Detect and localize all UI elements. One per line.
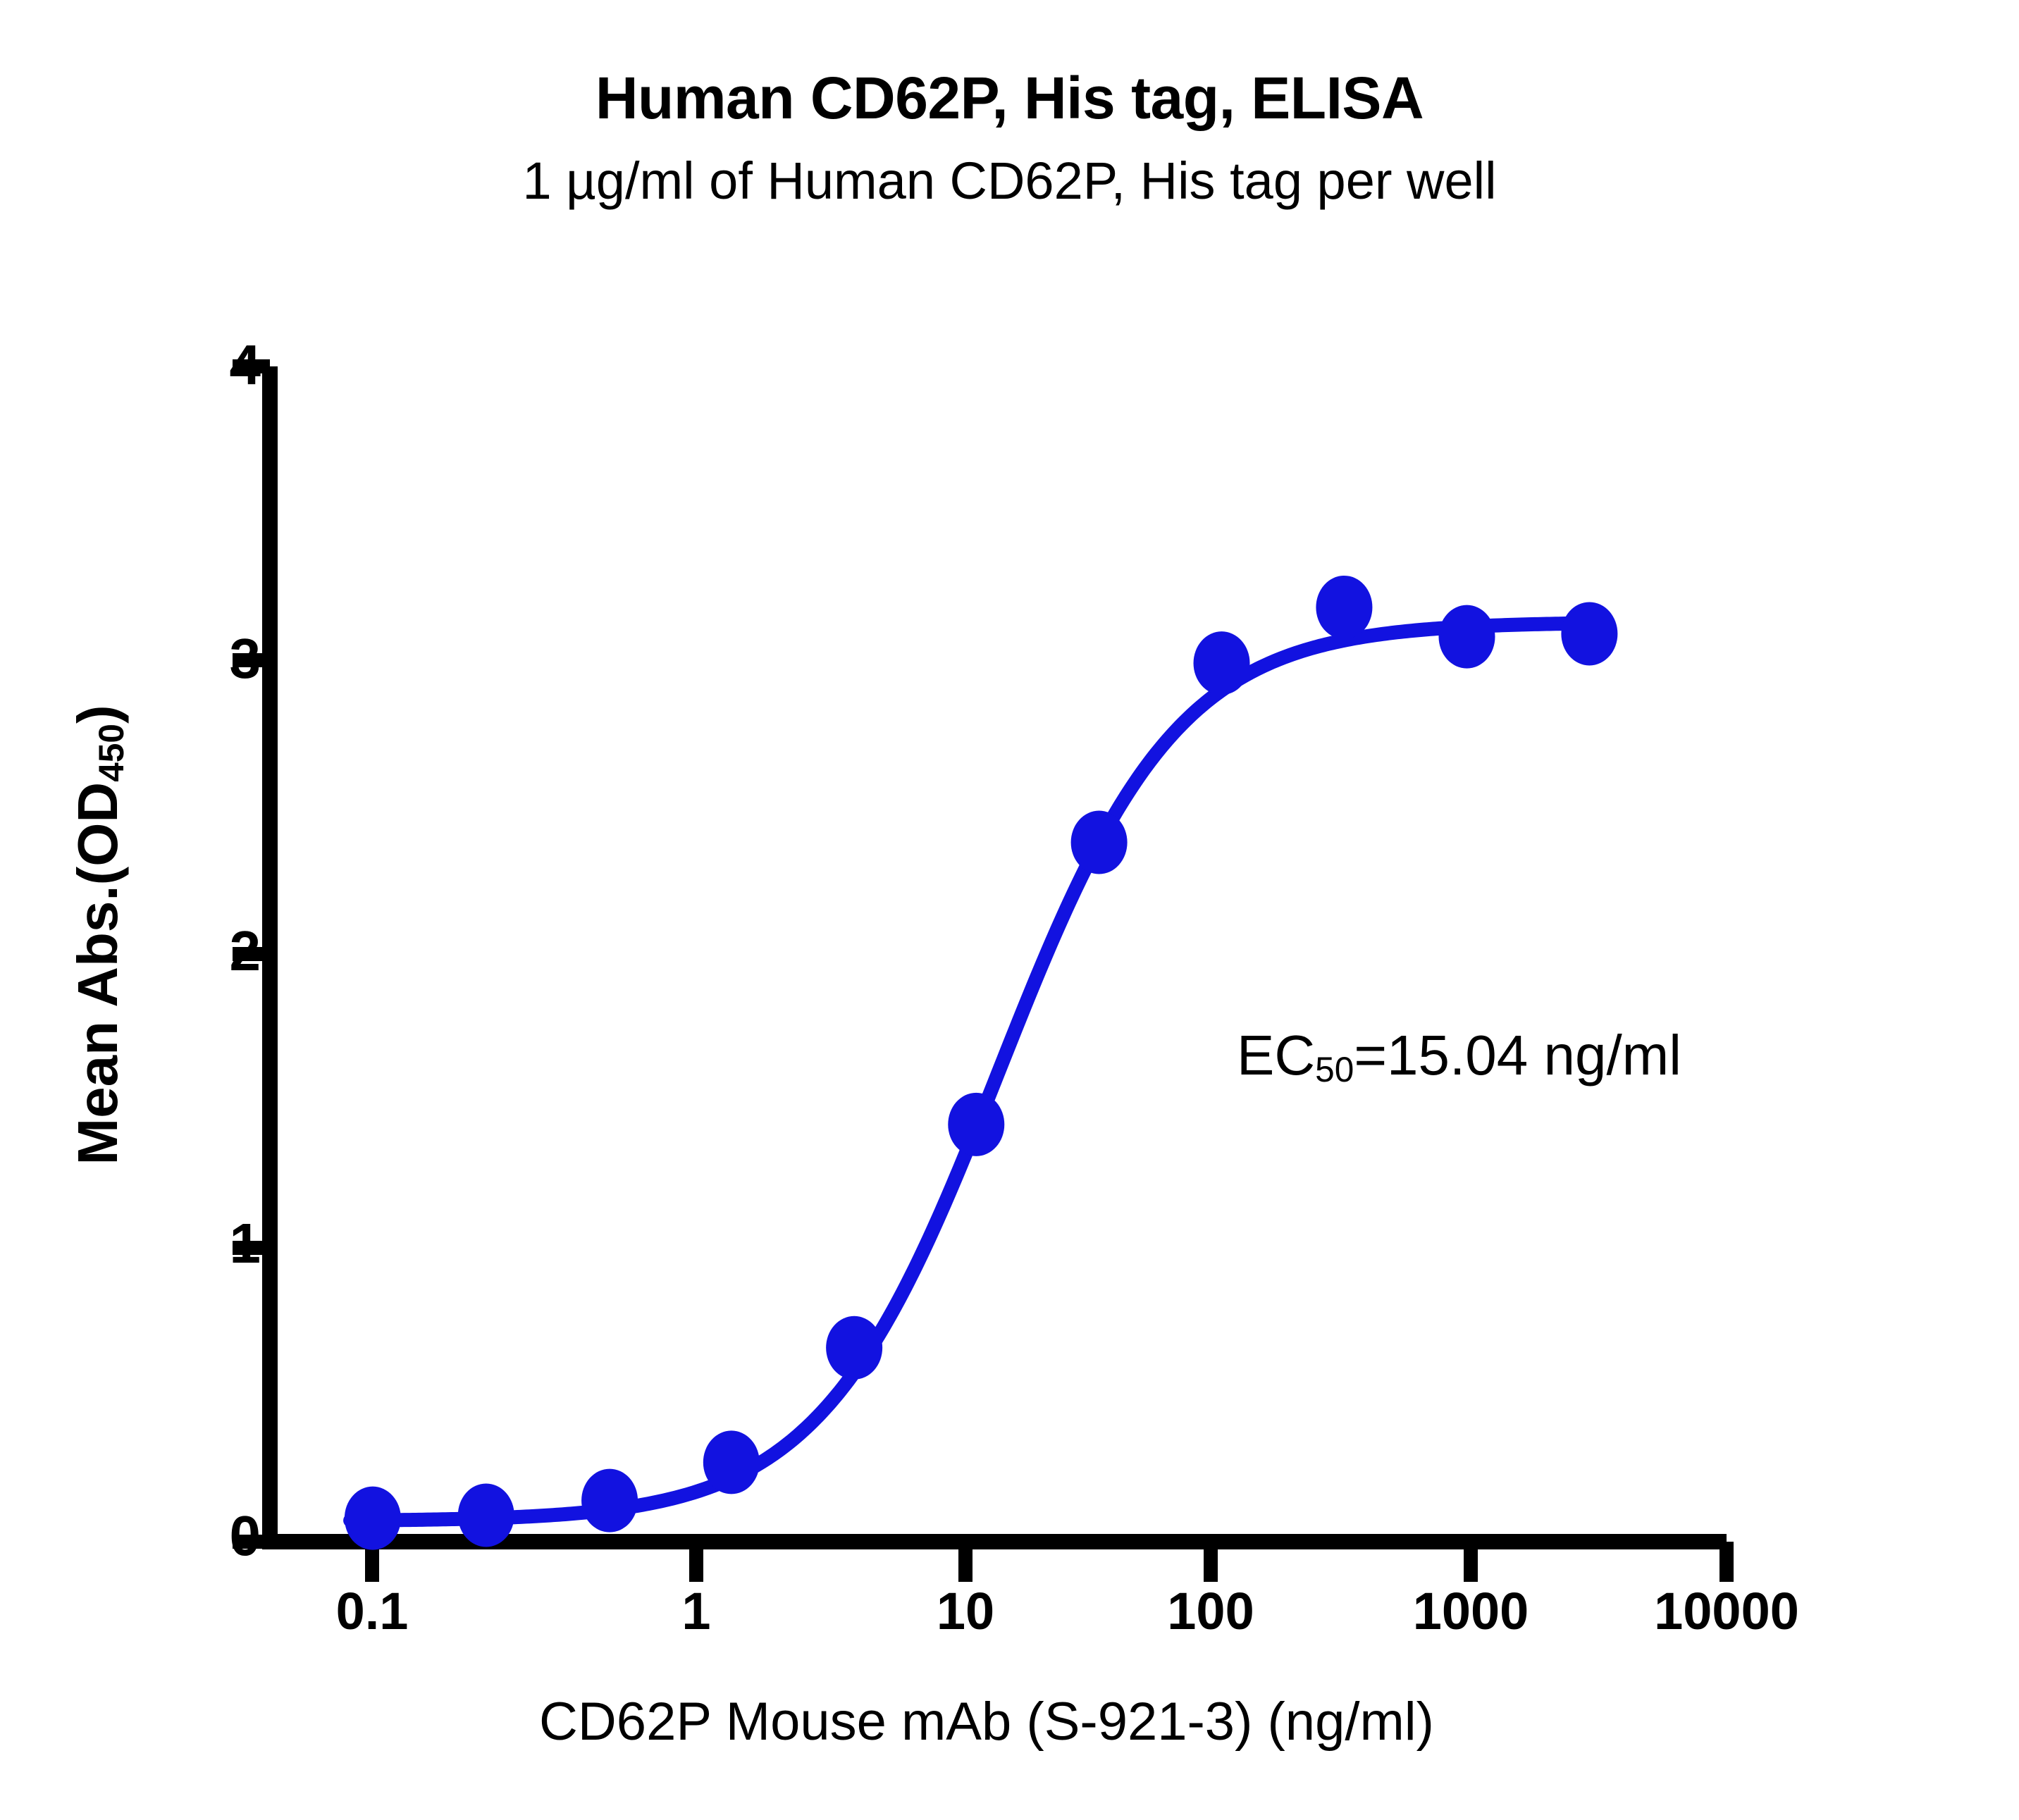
data-point (1316, 576, 1372, 639)
data-point (826, 1316, 882, 1380)
data-point (703, 1430, 760, 1494)
data-point (948, 1093, 1004, 1156)
series-group (345, 576, 1618, 1550)
data-point (1071, 811, 1128, 874)
fit-curve (350, 623, 1603, 1521)
plot-area: Mean Abs.(OD450) CD62P Mouse mAb (S-921-… (0, 0, 2019, 1820)
data-point (581, 1469, 638, 1533)
data-point (345, 1487, 401, 1550)
axis-group (233, 366, 1727, 1582)
data-point (458, 1483, 514, 1547)
chart-svg (0, 0, 2019, 1820)
chart-root: Human CD62P, His tag, ELISA 1 µg/ml of H… (0, 0, 2019, 1820)
data-point (1194, 631, 1250, 695)
data-points-group (345, 576, 1618, 1550)
data-point (1561, 602, 1617, 665)
data-point (1439, 605, 1495, 669)
